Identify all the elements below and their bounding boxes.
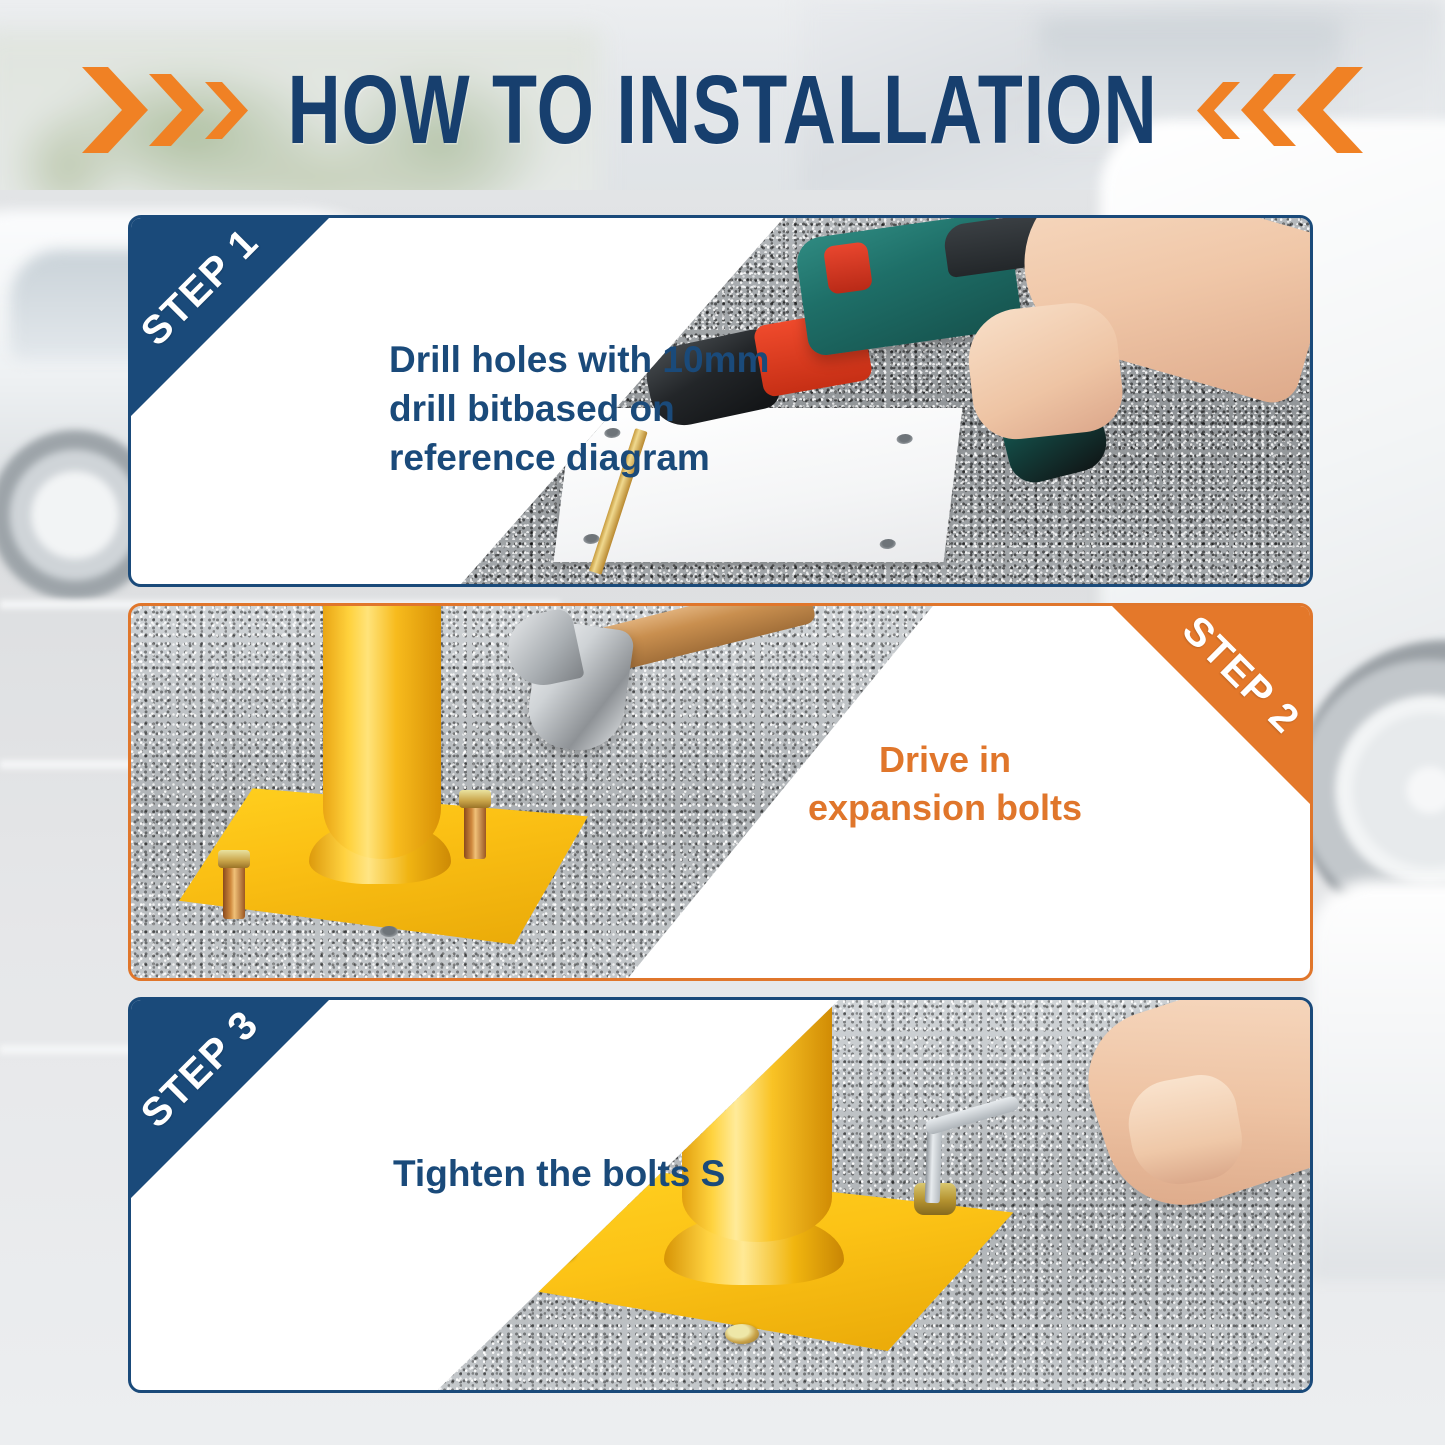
bolt-nut — [459, 790, 491, 808]
step-badge-triangle — [131, 218, 329, 416]
chevron-right-triple-icon — [78, 63, 252, 157]
bolt-nut — [218, 850, 250, 868]
drill-speed-switch — [823, 241, 873, 295]
bolt-head — [725, 1324, 759, 1344]
step-1-text-line: reference diagram — [389, 434, 859, 483]
bolt-head — [542, 1242, 576, 1262]
step-badge-3: STEP 3 — [131, 1000, 329, 1198]
yellow-bollard-post — [323, 606, 441, 859]
chevron-left-triple-icon — [1193, 63, 1367, 157]
expansion-bolt — [464, 803, 486, 859]
page-header: HOW TO INSTALLATION — [0, 55, 1445, 165]
step-badge-label: STEP 3 — [128, 997, 340, 1209]
infographic-page: HOW TO INSTALLATION — [0, 0, 1445, 1445]
plate-hole — [380, 926, 398, 937]
step-card-1[interactable]: STEP 1 Drill holes with 10mm drill bitba… — [128, 215, 1313, 587]
hex-allen-wrench — [925, 1128, 943, 1202]
step-badge-triangle — [131, 1000, 329, 1198]
page-title: HOW TO INSTALLATION — [287, 54, 1157, 165]
yellow-bollard-post — [682, 1000, 832, 1242]
expansion-bolt — [223, 863, 245, 919]
step-badge-1: STEP 1 — [131, 218, 329, 416]
step-1-text-line: Drill holes with 10mm — [389, 336, 859, 385]
step-card-2[interactable]: STEP 2 Drive in expansion bolts — [128, 603, 1313, 981]
hand-grip — [964, 298, 1127, 443]
background-car-right-lower — [1310, 880, 1445, 1280]
step-1-text: Drill holes with 10mm drill bitbased on … — [389, 336, 859, 482]
step-3-text: Tighten the bolts S — [393, 1150, 913, 1199]
step-2-text-line: Drive in — [730, 736, 1160, 784]
step-2-text-line: expansion bolts — [730, 784, 1160, 832]
plate-hole — [879, 539, 896, 549]
step-badge-label: STEP 1 — [128, 215, 340, 427]
plate-hole — [896, 434, 913, 444]
step-3-text-line: Tighten the bolts S — [393, 1150, 913, 1199]
step-1-text-line: drill bitbased on — [389, 385, 859, 434]
step-2-text: Drive in expansion bolts — [730, 736, 1160, 831]
step-card-3[interactable]: STEP 3 Tighten the bolts S — [128, 997, 1313, 1393]
